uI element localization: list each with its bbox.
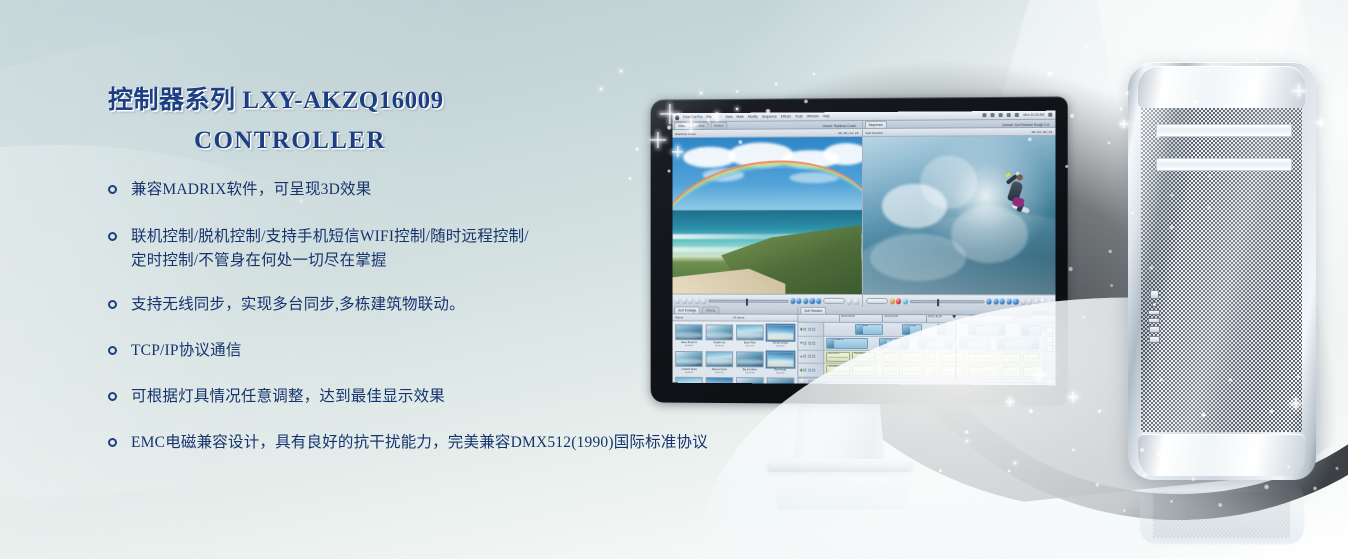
clip-duration: 00;04;21	[685, 371, 693, 374]
ruler-tick: 00;00;30;00	[839, 315, 855, 322]
track-lock-icon[interactable]	[813, 369, 816, 372]
menu-item-view[interactable]: View	[725, 115, 732, 119]
record-icon[interactable]	[896, 298, 901, 303]
track-lock-icon[interactable]	[804, 328, 807, 331]
viewer-transport	[672, 294, 861, 307]
go-to-in-icon[interactable]	[790, 298, 795, 303]
track-lock-icon[interactable]	[804, 341, 807, 344]
timeline-pane: Surf Session 00;01;06;04 00;00;30;00 00;…	[798, 307, 1055, 386]
list-item[interactable]: Paddle Out00;06;02	[705, 324, 733, 348]
optical-drive-slot-icon[interactable]	[1149, 326, 1160, 333]
headphone-port-icon[interactable]	[1152, 302, 1157, 307]
list-item[interactable]: Dawn Patrol	[766, 377, 794, 383]
artwork-surfer	[862, 136, 1055, 295]
timeline-clip[interactable]: Reef Aerial	[855, 324, 883, 335]
timeline-clip[interactable]: Surf Amb L	[940, 352, 964, 363]
clip-thumbnail[interactable]	[705, 351, 733, 367]
menu-item-effects[interactable]: Effects	[781, 114, 791, 118]
play-next-icon[interactable]	[1006, 299, 1011, 304]
clip-thumbnail[interactable]	[736, 351, 764, 367]
ruler-tick: 00;01;30;00	[926, 315, 942, 322]
promo-banner: 控制器系列 LXY-AKZQ16009 CONTROLLER 兼容MADRIX软…	[0, 0, 1348, 559]
play-previous-icon[interactable]	[797, 298, 802, 303]
menu-item-edit[interactable]: Edit	[716, 115, 722, 119]
timeline-clip[interactable]: Surf Amb R	[826, 365, 850, 376]
menubar-spacer	[834, 115, 979, 116]
insert-edit-icon[interactable]	[847, 298, 852, 303]
title-block: 控制器系列 LXY-AKZQ16009 CONTROLLER	[108, 80, 668, 155]
timeline-clip[interactable]: Surf Amb L	[826, 351, 850, 362]
timeline-clip[interactable]: Music R	[1001, 366, 1021, 377]
play-icon[interactable]	[1000, 299, 1005, 304]
play-previous-icon[interactable]	[993, 299, 998, 304]
clip-thumbnail[interactable]	[766, 377, 794, 383]
tower-mesh-panel	[1141, 108, 1302, 432]
tab-motion[interactable]: Motion	[710, 122, 727, 129]
clip-name: Sunset Lineup	[773, 342, 788, 345]
clip-thumbnail[interactable]	[766, 325, 794, 341]
mark-clip-icon[interactable]	[682, 298, 687, 303]
track-header-v1[interactable]	[798, 336, 823, 350]
menu-item-mark[interactable]: Mark	[737, 115, 744, 119]
monitor-stand-neck	[793, 402, 885, 464]
canvas-playback-buttons[interactable]	[986, 299, 1018, 304]
viewer-playhead[interactable]	[746, 298, 748, 305]
timeline-track-v2[interactable]: Reef Aerial Barrel Ride Cutback Sunset L…	[824, 323, 1043, 338]
tower-reflection-mesh	[1153, 492, 1290, 538]
viewer-scrubber[interactable]	[708, 299, 788, 302]
tab-surf-footage[interactable]: Surf Footage	[674, 306, 700, 313]
optical-drive-slot-icon[interactable]	[1149, 336, 1160, 343]
track-lock-icon[interactable]	[813, 355, 816, 358]
ruler-tick: 00;02;30;00	[1014, 316, 1030, 323]
zoom-out-icon[interactable]	[800, 379, 805, 384]
timeline-clip[interactable]: Barrel Ride	[902, 324, 922, 335]
mark-in-icon[interactable]	[695, 298, 700, 303]
list-item[interactable]: Cutback Spray00;04;21	[675, 351, 703, 375]
clip-thumbnail[interactable]	[675, 324, 703, 340]
timeline-clip[interactable]: Surf Amb R	[852, 365, 876, 376]
keyframe-icon[interactable]	[1040, 299, 1045, 304]
viewer-playback-buttons[interactable]	[790, 298, 821, 303]
clip-name: Reef Aerial	[775, 368, 787, 371]
clip-thumbnail[interactable]	[736, 377, 764, 383]
hollow-circle-bullet-icon	[108, 300, 117, 309]
clip-name: Wave Break 01	[681, 341, 697, 344]
clip-overlays-icon[interactable]	[1046, 345, 1053, 352]
page-subtitle: CONTROLLER	[194, 127, 668, 155]
play-icon[interactable]	[803, 298, 808, 303]
viewer-right-buttons[interactable]	[847, 298, 858, 303]
viewer-video-area[interactable]	[672, 137, 861, 294]
apple-logo-icon[interactable]	[675, 115, 679, 120]
final-cut-pro-window: Final Cut Pro File Edit View Mark Modify…	[672, 111, 1055, 386]
wifi-icon[interactable]	[1007, 113, 1011, 117]
timeline-clip[interactable]: Music R	[883, 365, 900, 376]
clip-duration: 00;09;05	[776, 346, 784, 349]
clip-name: Big Set Wave	[743, 368, 757, 371]
browser-thumbnail-grid[interactable]: Wave Break 0100;08;12 Paddle Out00;06;02…	[672, 321, 797, 383]
track-mute-icon[interactable]	[804, 355, 807, 358]
timeline-playhead[interactable]	[955, 323, 956, 378]
list-item[interactable]: Board Shaping	[675, 377, 703, 384]
timeline-clip[interactable]: Crowd Loop R	[968, 366, 999, 377]
search-icon[interactable]	[1048, 113, 1052, 117]
timeline-clip[interactable]: VO R	[924, 366, 935, 377]
menu-item-help[interactable]: Help	[823, 114, 830, 118]
tab-filters[interactable]: Filters	[692, 122, 708, 129]
menu-item-app[interactable]: Final Cut Pro	[683, 115, 702, 119]
canvas-scrubber[interactable]	[910, 300, 985, 303]
mark-out-icon[interactable]	[701, 298, 706, 303]
timeline-clip[interactable]: Cutback	[937, 324, 952, 335]
clip-duration: 00;10;00	[776, 372, 784, 375]
track-header-a2[interactable]	[798, 364, 823, 378]
zoom-in-icon[interactable]	[1048, 380, 1053, 385]
clip-thumbnail[interactable]	[675, 377, 703, 384]
canvas-clip-name: Surf Session	[865, 130, 883, 134]
canvas-zoom-slider[interactable]	[865, 298, 887, 304]
clip-thumbnail[interactable]	[705, 377, 733, 384]
track-enable-icon[interactable]	[800, 342, 803, 345]
monitor-reflection	[775, 476, 907, 510]
tab-surf-session[interactable]: Surf Session	[800, 307, 826, 314]
timeline-clip[interactable]: Music R	[902, 365, 922, 376]
mark-out-icon[interactable]	[903, 299, 908, 304]
timeline-track-v1[interactable]: Wave Break 01 Paddle Out Wipeout Foam Bi…	[824, 337, 1043, 352]
view-options-icon[interactable]	[1047, 299, 1052, 304]
menu-item-tools[interactable]: Tools	[795, 114, 803, 118]
timeline-clip[interactable]: VO R	[1023, 366, 1038, 377]
cinema-display: Final Cut Pro File Edit View Mark Modify…	[648, 98, 1066, 404]
tower-port-cluster[interactable]	[1146, 290, 1162, 343]
canvas-timecode[interactable]: 00;01;06;04	[1032, 129, 1053, 133]
clip-name: Barrel Ride	[744, 341, 756, 344]
clip-duration: 00;06;02	[715, 345, 723, 348]
monitor-screen: Final Cut Pro File Edit View Mark Modify…	[672, 111, 1055, 386]
monitor-stand-base	[767, 459, 913, 472]
list-item[interactable]: Sunset Lineup00;09;05	[766, 325, 794, 349]
canvas-title: Canvas: Surf Session Rough Cut	[1002, 123, 1049, 127]
render-status-icon[interactable]	[1046, 327, 1053, 334]
viewer-left-buttons[interactable]	[675, 298, 706, 303]
surfer-figure	[1006, 171, 1028, 215]
timeline-clip[interactable]: Music L	[902, 352, 922, 363]
viewer-timecode[interactable]: 00;00;14;22	[838, 131, 858, 135]
horizontal-scroll-thumb[interactable]	[807, 380, 1046, 385]
timeline-clip[interactable]: Surf Amb L	[852, 351, 876, 362]
overwrite-edit-icon[interactable]	[854, 298, 859, 303]
feature-text: 兼容MADRIX软件，可呈现3D效果	[131, 178, 371, 202]
feature-text: 可根据灯具情况任意调整，达到最佳显示效果	[131, 385, 445, 409]
timeline-clip[interactable]: Big Set Wave	[959, 338, 990, 349]
timeline-track-gutter	[798, 323, 824, 378]
list-item[interactable]: Shore Break	[736, 377, 764, 383]
hollow-circle-bullet-icon	[108, 185, 117, 194]
timeline-right-strip[interactable]	[1043, 324, 1055, 380]
battery-icon[interactable]	[1015, 113, 1019, 117]
go-to-out-icon[interactable]	[1013, 299, 1018, 304]
tower-bottom-cap	[1138, 434, 1305, 476]
timeline-clip[interactable]: Paddle Out	[878, 338, 909, 349]
timeline-timecode[interactable]: 00;01;06;04	[1032, 311, 1049, 315]
browser-pane: Surf Footage Effects Name 24 items Wave …	[672, 306, 798, 383]
list-item[interactable]: Wave Break 0100;08;12	[675, 324, 703, 348]
mac-pro-tower	[1128, 62, 1316, 480]
timeline-clip[interactable]: Music L	[1001, 352, 1021, 363]
tab-effects[interactable]: Effects	[702, 307, 719, 314]
list-item[interactable]: Big Set Wave00;12;08	[736, 351, 764, 375]
track-mute-icon[interactable]	[804, 369, 807, 372]
list-item[interactable]: Barrel Ride00;11;19	[736, 325, 764, 349]
canvas-playhead[interactable]	[937, 299, 939, 306]
clip-thumbnail[interactable]	[736, 325, 764, 341]
timeline-playhead-marker[interactable]	[952, 315, 956, 318]
viewer-zoom-slider[interactable]	[823, 298, 845, 304]
track-auto-select-icon[interactable]	[813, 341, 816, 344]
feature-text: 联机控制/脱机控制/支持手机短信WIFI控制/随时远程控制/ 定时控制/不管身在…	[131, 225, 529, 273]
track-solo-icon[interactable]	[808, 369, 811, 372]
clip-name: Wipeout Foam	[712, 368, 727, 371]
tower-reflection	[1140, 482, 1304, 544]
feature-text: EMC电磁兼容设计，具有良好的抗干扰能力，完美兼容DMX512(1990)国际标…	[131, 431, 708, 455]
canvas-mark-buttons[interactable]	[889, 298, 907, 303]
page-title: 控制器系列 LXY-AKZQ16009	[108, 80, 668, 116]
track-visibility-icon[interactable]	[808, 328, 811, 331]
go-to-out-icon[interactable]	[816, 298, 821, 303]
browser-header-name[interactable]: Name	[675, 315, 683, 319]
canvas-video-area[interactable]	[862, 136, 1055, 295]
track-enable-icon[interactable]	[800, 355, 803, 358]
timeline-clip[interactable]: Music L	[883, 352, 900, 363]
ruler-tick: 00;01;00;00	[882, 315, 898, 322]
clip-duration: 00;11;19	[746, 345, 754, 348]
optical-drive-slot-2[interactable]	[1156, 158, 1292, 171]
timeline-track-a2[interactable]: Surf Amb R Surf Amb R Music R Music R VO…	[824, 364, 1043, 379]
viewer-title: Viewer: Rainbow Coast	[823, 124, 856, 128]
timeline-clip[interactable]: Wipeout Foam	[918, 338, 953, 349]
add-marker-icon[interactable]	[688, 298, 693, 303]
browser-timeline-row: Surf Footage Effects Name 24 items Wave …	[672, 306, 1055, 385]
clip-name: Cutback Spray	[681, 367, 696, 370]
list-item[interactable]: Beach Walk	[705, 377, 733, 384]
list-item: EMC电磁兼容设计，具有良好的抗干扰能力，完美兼容DMX512(1990)国际标…	[108, 431, 868, 455]
timeline-body: Reef Aerial Barrel Ride Cutback Sunset L…	[798, 323, 1055, 379]
clip-duration: 00;07;14	[715, 372, 723, 375]
clip-duration: 00;12;08	[746, 372, 754, 375]
timeline-clip[interactable]: VO L	[1023, 352, 1038, 363]
track-enable-icon[interactable]	[800, 369, 803, 372]
clip-thumbnail[interactable]	[675, 351, 703, 367]
hollow-circle-bullet-icon	[108, 438, 117, 447]
track-visibility-icon[interactable]	[808, 341, 811, 344]
go-to-in-icon[interactable]	[986, 299, 991, 304]
timeline-clip[interactable]: Shore Break	[1021, 325, 1041, 336]
match-frame-icon[interactable]	[675, 298, 680, 303]
track-header-v2[interactable]	[798, 323, 823, 337]
tower-top-cap	[1138, 66, 1305, 108]
feature-text: 支持无线同步，实现多台同步,多栋建筑物联动。	[131, 293, 465, 317]
menubar-clock[interactable]: Mon 10:24 AM	[1023, 113, 1044, 117]
mark-in-icon[interactable]	[889, 298, 894, 303]
usb-port-icon[interactable]	[1148, 318, 1160, 323]
feature-text: TCP/IP协议通信	[131, 339, 242, 363]
timeline-clip[interactable]: Wave Break 01	[826, 338, 867, 349]
timeline-clip[interactable]: Sunset Lineup	[968, 324, 1005, 335]
timeline-tracks[interactable]: Reef Aerial Barrel Ride Cutback Sunset L…	[824, 323, 1043, 379]
list-item[interactable]: Wipeout Foam00;07;14	[705, 351, 733, 375]
time-machine-icon[interactable]	[991, 113, 995, 117]
add-marker-icon[interactable]	[1027, 299, 1032, 304]
timeline-clip[interactable]: Dawn Patrol	[997, 338, 1039, 349]
menu-item-window[interactable]: Window	[807, 114, 819, 118]
play-next-icon[interactable]	[810, 298, 815, 303]
timeline-track-a1[interactable]: Surf Amb L Surf Amb L Music L Music L VO…	[824, 350, 1043, 365]
tab-video[interactable]: Video	[674, 122, 690, 129]
volume-icon[interactable]	[999, 113, 1003, 117]
viewer-canvas-row: Video Filters Motion Viewer: Rainbow Coa…	[672, 120, 1055, 308]
menu-item-file[interactable]: File	[706, 115, 711, 119]
list-item[interactable]: Reef Aerial00;10;00	[766, 351, 794, 375]
clip-duration: 00;08;12	[685, 345, 693, 348]
canvas-right-buttons[interactable]	[1020, 299, 1052, 304]
optical-drive-slot-1[interactable]	[1156, 124, 1292, 137]
track-solo-icon[interactable]	[808, 355, 811, 358]
ruler-tick: 00;02;00;00	[970, 315, 986, 322]
timeline-clip[interactable]: VO L	[924, 352, 935, 363]
mark-clip-icon[interactable]	[1034, 299, 1039, 304]
tower-body	[1128, 62, 1316, 480]
viewer-clip-name: Rainbow Coast	[675, 131, 696, 135]
timeline-clip[interactable]: Surf Amb R	[940, 366, 964, 377]
track-auto-select-icon[interactable]	[813, 328, 816, 331]
timeline-clip[interactable]: Crowd Loop L	[968, 352, 999, 363]
firewire-port-icon[interactable]	[1150, 290, 1159, 299]
canvas-pane: Sequence Canvas: Surf Session Rough Cut …	[862, 120, 1055, 308]
hollow-circle-bullet-icon	[108, 232, 117, 241]
menu-item-sequence[interactable]: Sequence	[762, 115, 777, 119]
clip-name: Paddle Out	[714, 341, 726, 344]
artwork-tropical-coast	[672, 137, 861, 294]
viewer-pane: Video Filters Motion Viewer: Rainbow Coa…	[672, 121, 862, 307]
usb-port-icon[interactable]	[1148, 310, 1160, 315]
match-frame-icon[interactable]	[1020, 299, 1025, 304]
tab-sequence[interactable]: Sequence	[864, 121, 886, 128]
hollow-circle-bullet-icon	[108, 346, 117, 355]
browser-item-count: 24 items	[733, 316, 745, 320]
track-header-a1[interactable]	[798, 350, 823, 364]
menu-item-modify[interactable]: Modify	[748, 115, 758, 119]
canvas-transport	[862, 294, 1055, 308]
track-height-icon[interactable]	[1046, 336, 1053, 343]
clip-thumbnail[interactable]	[705, 324, 733, 340]
clip-thumbnail[interactable]	[766, 351, 794, 367]
track-enable-icon[interactable]	[800, 328, 803, 331]
bluetooth-icon[interactable]	[983, 113, 987, 117]
hollow-circle-bullet-icon	[108, 392, 117, 401]
